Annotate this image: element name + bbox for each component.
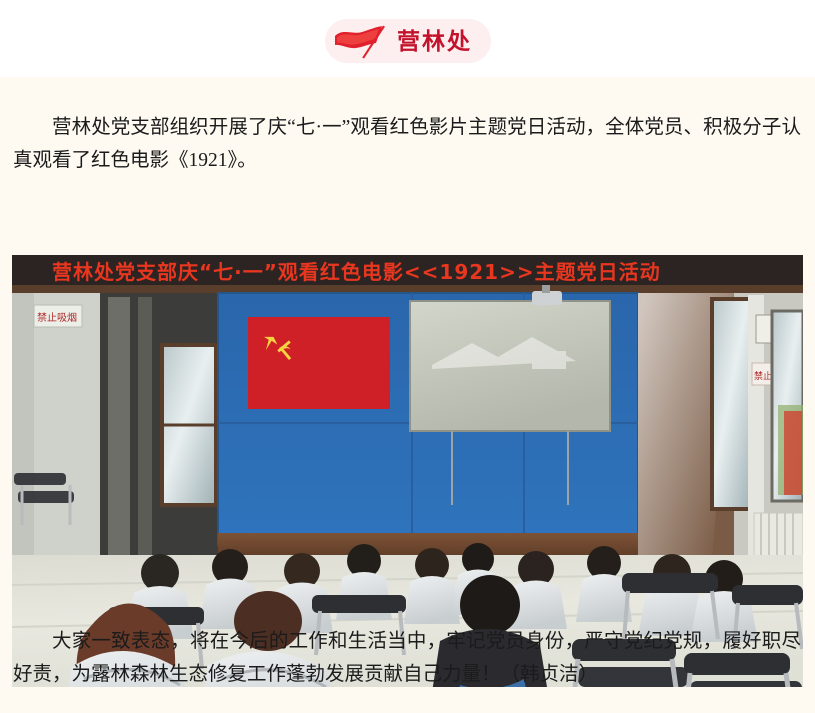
led-banner-text: 营林处党支部庆“七·一”观看红色电影<<1921>>主题党日活动: [52, 260, 661, 284]
event-photo: 营林处党支部庆“七·一”观看红色电影<<1921>>主题党日活动 禁止吸烟: [12, 255, 803, 687]
article-body: 营林处党支部组织开展了庆“七·一”观看红色影片主题党日活动，全体党员、积极分子认…: [0, 77, 815, 713]
page-header: 营林处: [0, 0, 815, 77]
page-title: 营林处: [397, 30, 472, 53]
intro-paragraph: 营林处党支部组织开展了庆“七·一”观看红色影片主题党日活动，全体党员、积极分子认…: [13, 111, 801, 177]
wall-sign-left: 禁止吸烟: [37, 311, 77, 324]
article-page: 营林处 营林处党支部组织开展了庆“七·一”观看红色影片主题党日活动，全体党员、积…: [0, 0, 815, 713]
red-flag-icon: [333, 25, 395, 59]
event-photo-illustration: 营林处党支部庆“七·一”观看红色电影<<1921>>主题党日活动 禁止吸烟: [12, 255, 803, 687]
title-badge: 营林处: [325, 19, 491, 63]
closing-paragraph: 大家一致表态，将在今后的工作和生活当中，牢记党员身份，严守党纪党规，履好职尽好责…: [13, 625, 801, 691]
